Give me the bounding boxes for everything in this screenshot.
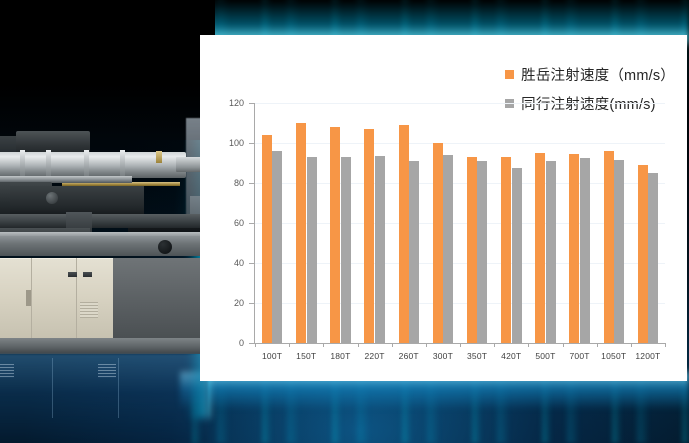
machine-dark-backdrop xyxy=(0,0,215,140)
machine-cabinet-handle xyxy=(26,290,31,306)
machine-round-knob xyxy=(46,192,58,204)
machine-cabinet-seam-1 xyxy=(31,258,32,340)
x-tick-label-220T: 220T xyxy=(358,351,392,361)
bar-300T-series-1 xyxy=(433,143,443,343)
chart-card: 胜岳注射速度（mm/s） 同行注射速度(mm/s) 02040608010012… xyxy=(200,35,687,381)
y-tick-label-100: 100 xyxy=(218,138,244,148)
bar-220T-series-1 xyxy=(364,129,374,343)
legend-label-shengyue: 胜岳注射速度（mm/s） xyxy=(521,64,675,85)
x-tick-label-100T: 100T xyxy=(255,351,289,361)
bar-150T-series-1 xyxy=(296,123,306,343)
machine-reflection-seam-2 xyxy=(118,358,119,418)
bar-series-layer xyxy=(255,103,665,343)
machine-rail-upper xyxy=(0,214,205,228)
bar-300T-series-2 xyxy=(443,155,453,343)
bar-1200T-series-2 xyxy=(648,173,658,343)
bar-180T-series-2 xyxy=(341,157,351,343)
machine-reflection-vent-1 xyxy=(0,364,14,378)
x-tick-label-500T: 500T xyxy=(528,351,562,361)
bar-500T-series-2 xyxy=(546,161,556,343)
x-tick-700T xyxy=(597,343,598,347)
x-tick-420T xyxy=(528,343,529,347)
x-tick-1050T xyxy=(631,343,632,347)
bar-420T-series-2 xyxy=(512,168,522,343)
bar-1200T-series-1 xyxy=(638,165,648,343)
bar-150T-series-2 xyxy=(307,157,317,343)
injection-molding-machine-image xyxy=(0,0,215,443)
bar-180T-series-1 xyxy=(330,127,340,343)
y-tick-label-0: 0 xyxy=(218,338,244,348)
bar-260T-series-1 xyxy=(399,125,409,343)
bar-1050T-series-2 xyxy=(614,160,624,343)
machine-round-port xyxy=(158,240,172,254)
bar-350T-series-1 xyxy=(467,157,477,343)
x-tick-260T xyxy=(426,343,427,347)
y-tick-label-80: 80 xyxy=(218,178,244,188)
y-tick-label-60: 60 xyxy=(218,218,244,228)
x-tick-350T xyxy=(494,343,495,347)
machine-button-1 xyxy=(68,272,77,277)
y-tick-label-20: 20 xyxy=(218,298,244,308)
machine-reflection-seam-1 xyxy=(52,358,53,418)
machine-base-plinth xyxy=(0,338,208,354)
x-tick-220T xyxy=(392,343,393,347)
bar-100T-series-1 xyxy=(262,135,272,343)
bar-100T-series-2 xyxy=(272,151,282,343)
bar-420T-series-1 xyxy=(501,157,511,343)
bar-260T-series-2 xyxy=(409,161,419,343)
bar-700T-series-2 xyxy=(580,158,590,343)
x-tick-500T xyxy=(563,343,564,347)
bar-500T-series-1 xyxy=(535,153,545,343)
machine-cabinet-seam-2 xyxy=(76,258,77,340)
x-tick-300T xyxy=(460,343,461,347)
machine-brass-fitting xyxy=(156,151,162,163)
machine-cabinet xyxy=(0,258,113,340)
machine-reflection-vent-2 xyxy=(98,364,116,378)
chart-plot-area: 胜岳注射速度（mm/s） 同行注射速度(mm/s) 02040608010012… xyxy=(200,35,687,381)
x-tick-label-1050T: 1050T xyxy=(597,351,631,361)
bar-350T-series-2 xyxy=(477,161,487,343)
x-tick-label-350T: 350T xyxy=(460,351,494,361)
x-tick-label-260T: 260T xyxy=(392,351,426,361)
legend-item-shengyue: 胜岳注射速度（mm/s） xyxy=(505,64,675,85)
machine-cabinet-vent xyxy=(80,302,98,318)
x-tick-1200T xyxy=(665,343,666,347)
machine-button-2 xyxy=(83,272,92,277)
x-tick-180T xyxy=(358,343,359,347)
x-tick-label-150T: 150T xyxy=(289,351,323,361)
y-tick-label-40: 40 xyxy=(218,258,244,268)
y-tick-label-120: 120 xyxy=(218,98,244,108)
x-tick-150T xyxy=(323,343,324,347)
x-tick-label-300T: 300T xyxy=(426,351,460,361)
bar-1050T-series-1 xyxy=(604,151,614,343)
machine-grey-guard-panel xyxy=(113,258,205,340)
x-tick-label-180T: 180T xyxy=(323,351,357,361)
x-tick-origin xyxy=(255,343,256,347)
x-tick-100T xyxy=(289,343,290,347)
bar-220T-series-2 xyxy=(375,156,385,343)
x-tick-label-420T: 420T xyxy=(494,351,528,361)
machine-table xyxy=(0,236,215,256)
x-tick-label-700T: 700T xyxy=(563,351,597,361)
legend-swatch-orange xyxy=(505,70,514,79)
x-tick-label-1200T: 1200T xyxy=(631,351,665,361)
bar-700T-series-1 xyxy=(569,154,579,343)
